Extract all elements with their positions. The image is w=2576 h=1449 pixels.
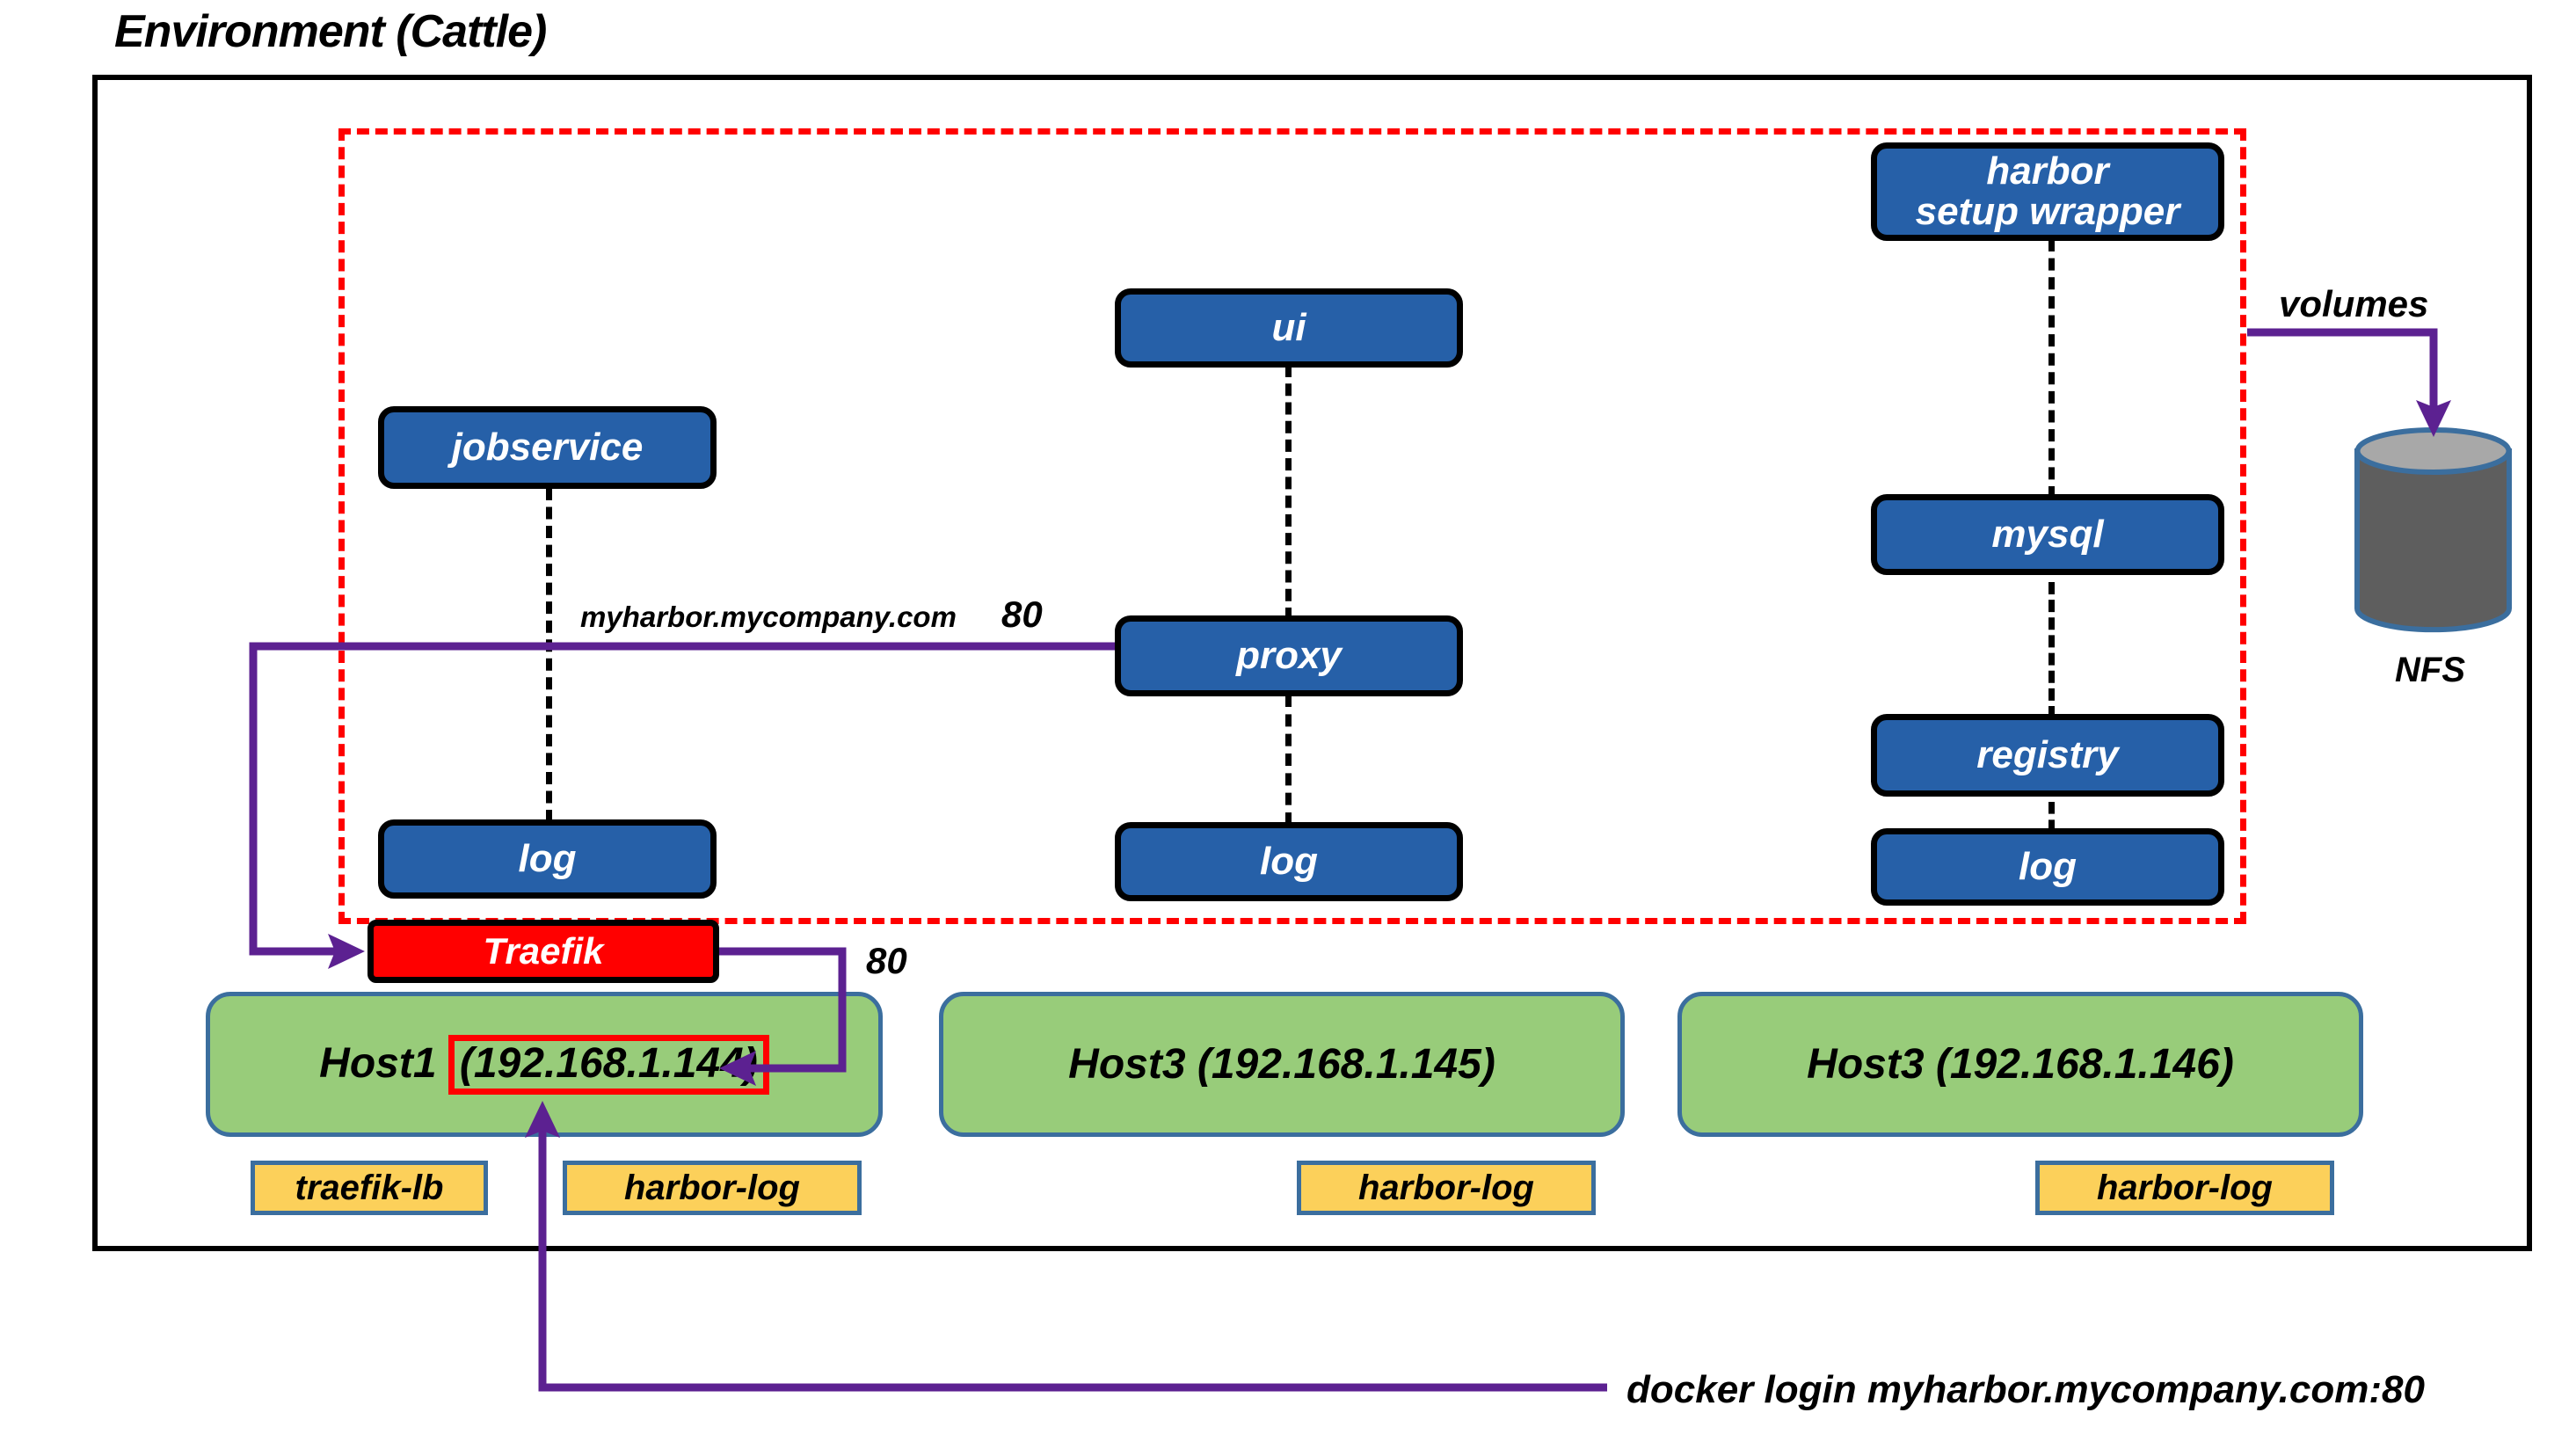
service-label: jobservice: [452, 427, 644, 468]
host-box-3[interactable]: Host3 (192.168.1.146): [1677, 992, 2363, 1137]
service-box-ui[interactable]: ui: [1115, 288, 1463, 368]
diagram-canvas: Environment (Cattle) jobservice log ui p…: [0, 0, 2576, 1449]
service-label: ui: [1271, 308, 1306, 348]
host-1-label: Host1 (192.168.1.144): [319, 1035, 769, 1095]
nfs-label: NFS: [2395, 651, 2465, 690]
service-box-harbor-setup-wrapper[interactable]: harbor setup wrapper: [1871, 142, 2224, 241]
service-box-jobservice-log[interactable]: log: [378, 819, 717, 899]
service-box-mysql[interactable]: mysql: [1871, 494, 2224, 575]
host-2-ip: (192.168.1.145): [1197, 1041, 1495, 1088]
connector-registry-log: [2048, 802, 2055, 832]
service-label: log: [519, 839, 577, 879]
volumes-label: volumes: [2279, 283, 2428, 325]
badge-label: harbor-log: [1358, 1169, 1534, 1208]
badge-label: traefik-lb: [295, 1169, 444, 1208]
connector-jobservice-log: [546, 488, 552, 822]
service-label: mysql: [1991, 514, 2103, 555]
domain-label: myharbor.mycompany.com: [580, 601, 957, 634]
connector-ui-proxy: [1285, 365, 1292, 620]
host-1-ip-highlight: (192.168.1.144): [448, 1035, 769, 1095]
host-3-name: Host3: [1807, 1041, 1936, 1088]
traefik-loadbalancer-box[interactable]: Traefik: [367, 920, 719, 983]
badge-host2-harbor-log[interactable]: harbor-log: [1297, 1161, 1596, 1215]
traefik-port-label: 80: [866, 940, 907, 982]
service-box-proxy-log[interactable]: log: [1115, 822, 1463, 901]
proxy-port-label: 80: [1001, 593, 1043, 636]
service-label: log: [1260, 841, 1318, 882]
host-2-label: Host3 (192.168.1.145): [1068, 1040, 1495, 1089]
service-box-proxy[interactable]: proxy: [1115, 615, 1463, 696]
connector-wrapper-mysql: [2048, 239, 2055, 499]
host-box-1[interactable]: Host1 (192.168.1.144): [206, 992, 883, 1137]
traefik-label: Traefik: [484, 930, 604, 972]
connector-mysql-registry: [2048, 582, 2055, 718]
badge-label: harbor-log: [2097, 1169, 2273, 1208]
badge-traefik-lb[interactable]: traefik-lb: [251, 1161, 488, 1215]
service-label: proxy: [1236, 636, 1342, 676]
service-label: harbor setup wrapper: [1916, 151, 2180, 232]
nfs-storage-icon: [2352, 426, 2514, 633]
host-1-name: Host1: [319, 1040, 448, 1087]
service-label: log: [2019, 847, 2077, 887]
badge-host1-harbor-log[interactable]: harbor-log: [563, 1161, 862, 1215]
page-title: Environment (Cattle): [114, 5, 546, 58]
service-box-registry-log[interactable]: log: [1871, 828, 2224, 906]
badge-host3-harbor-log[interactable]: harbor-log: [2035, 1161, 2334, 1215]
host-3-ip: (192.168.1.146): [1936, 1041, 2234, 1088]
host-box-2[interactable]: Host3 (192.168.1.145): [939, 992, 1625, 1137]
host-2-name: Host3: [1068, 1041, 1197, 1088]
service-box-jobservice[interactable]: jobservice: [378, 406, 717, 489]
badge-label: harbor-log: [624, 1169, 800, 1208]
connector-proxy-log: [1285, 695, 1292, 825]
host-3-label: Host3 (192.168.1.146): [1807, 1040, 2234, 1089]
service-label: registry: [1976, 735, 2118, 775]
docker-login-label: docker login myharbor.mycompany.com:80: [1626, 1368, 2425, 1412]
service-box-registry[interactable]: registry: [1871, 714, 2224, 797]
